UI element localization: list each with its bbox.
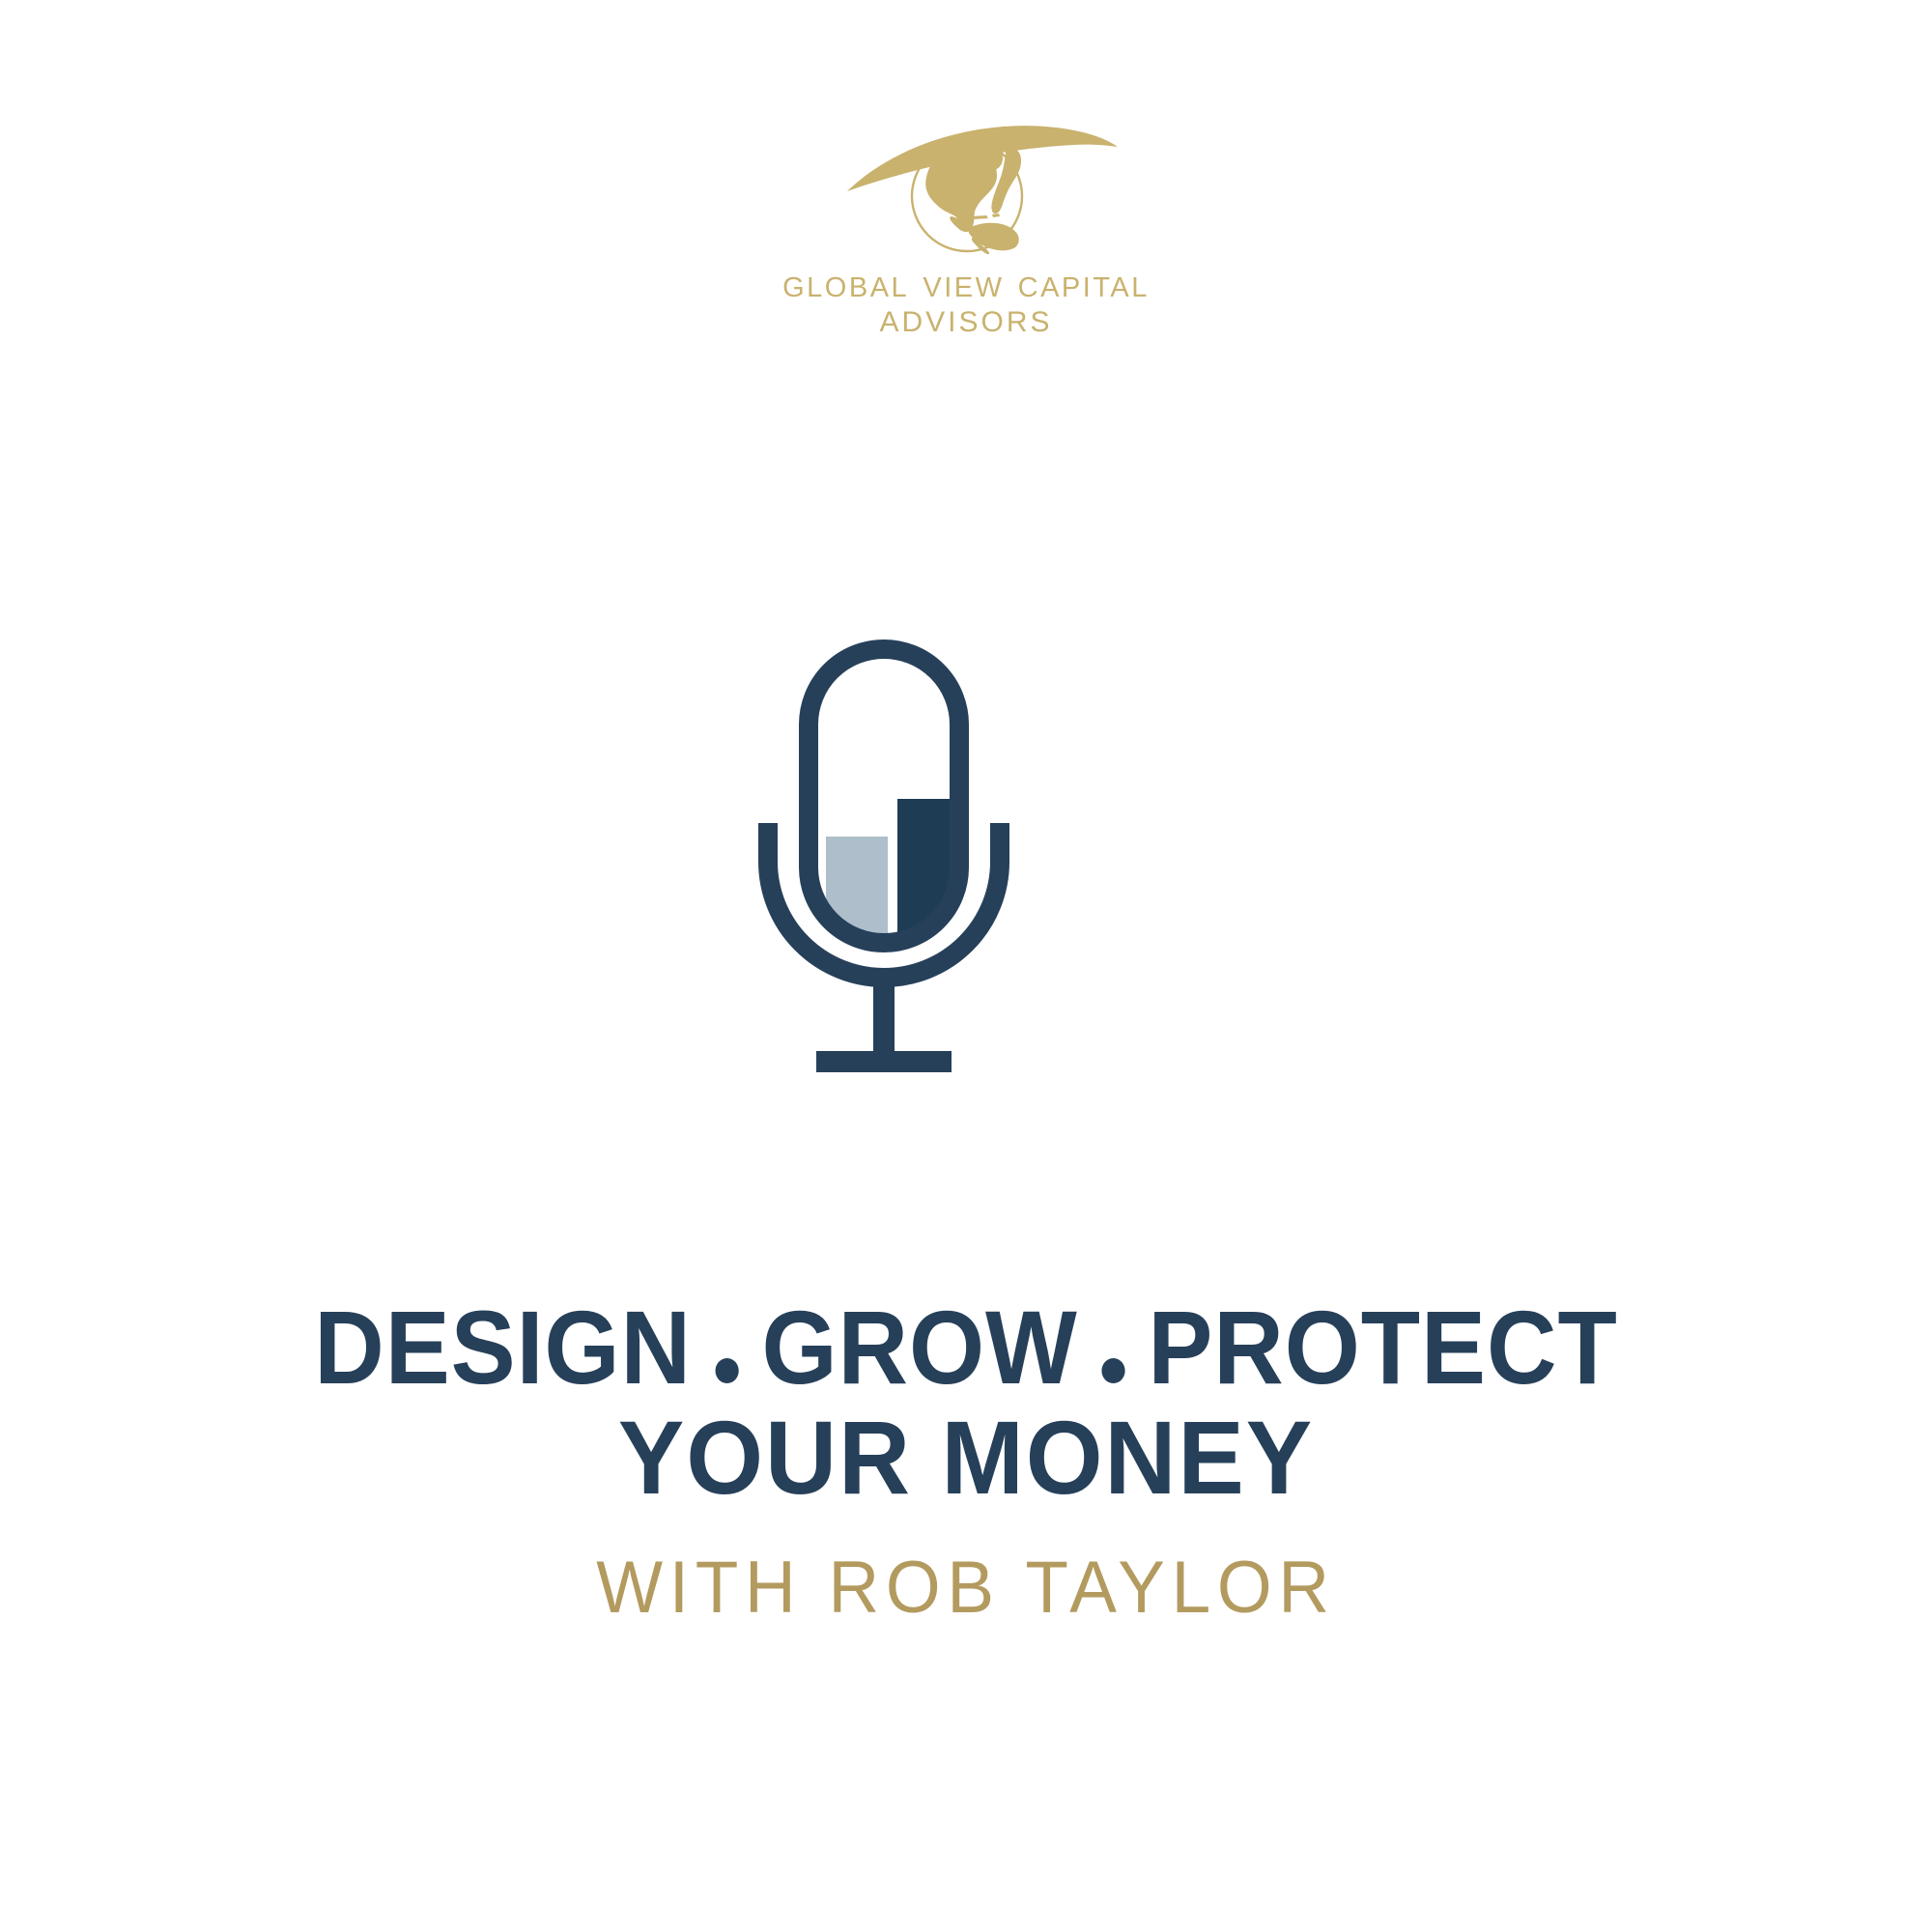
brand-name-primary: Global View Capital bbox=[782, 263, 1150, 303]
microphone-bar-chart-icon bbox=[744, 599, 1188, 1217]
page-title-line-2: YOUR MONEY bbox=[48, 1405, 1884, 1511]
brand-name-secondary: ADVISORS bbox=[782, 308, 1150, 337]
brand-logo: Global View Capital ADVISORS bbox=[0, 116, 1932, 338]
title-block: DESIGNGROWPROTECT YOUR MONEY WITH ROB TA… bbox=[0, 1294, 1932, 1630]
title-separator-dot-2 bbox=[1101, 1358, 1124, 1383]
title-word-protect: PROTECT bbox=[1148, 1289, 1617, 1406]
page-title-line-1: DESIGNGROWPROTECT bbox=[68, 1294, 1864, 1401]
brand-wordmark: Global View Capital ADVISORS bbox=[782, 263, 1150, 337]
mic-base bbox=[816, 1051, 952, 1072]
title-word-design: DESIGN bbox=[314, 1289, 692, 1406]
globe-eye-icon bbox=[807, 116, 1125, 261]
podcast-cover-art: Global View Capital ADVISORS bbox=[0, 0, 1932, 1932]
podcast-host-subtitle: WITH ROB TAYLOR bbox=[39, 1546, 1893, 1630]
title-separator-dot-1 bbox=[715, 1358, 738, 1383]
title-word-grow: GROW bbox=[761, 1289, 1077, 1406]
